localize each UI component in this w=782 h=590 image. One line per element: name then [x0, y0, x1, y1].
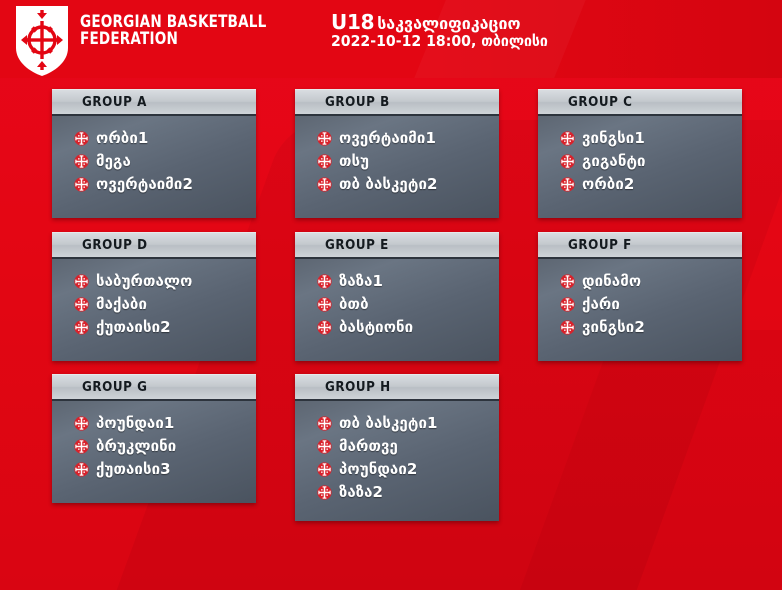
group-label-f: GROUP F: [568, 238, 632, 253]
federation-emblem-bullet-icon: [317, 131, 332, 146]
team-name: ვინგსი1: [582, 129, 645, 147]
team-row: ვინგსი1: [560, 127, 734, 149]
team-name: ბასტიონი: [339, 318, 413, 336]
team-name: ორბი2: [582, 175, 634, 193]
federation-emblem-bullet-icon: [317, 177, 332, 192]
event-category: U18: [331, 10, 374, 34]
team-row: ქუთაისი2: [74, 316, 248, 338]
team-row: პოუნდაი1: [74, 412, 248, 434]
federation-emblem-bullet-icon: [317, 462, 332, 477]
federation-emblem-bullet-icon: [317, 439, 332, 454]
federation-emblem-bullet-icon: [74, 462, 89, 477]
federation-emblem-bullet-icon: [560, 297, 575, 312]
team-row: ბასტიონი: [317, 316, 491, 338]
group-card-f: GROUP Fდინამოქარივინგსი2: [538, 232, 742, 361]
team-name: ორბი1: [96, 129, 148, 147]
group-card-b: GROUP Bოვერტაიმი1თსუთბ ბასკეტი2: [295, 89, 499, 218]
team-row: თბ ბასკეტი2: [317, 173, 491, 195]
event-datetime: 2022-10-12 18:00, თბილისი: [331, 34, 548, 50]
team-name: თბ ბასკეტი2: [339, 175, 438, 193]
event-title-text: საკვალიფიკაციო: [377, 14, 520, 33]
team-name: პოუნდაი1: [96, 414, 174, 432]
federation-emblem-bullet-icon: [317, 154, 332, 169]
gbf-shield-logo-icon: [14, 4, 70, 78]
group-header-c: GROUP C: [538, 89, 742, 114]
group-card-c: GROUP Cვინგსი1გიგანტიორბი2: [538, 89, 742, 218]
federation-emblem-bullet-icon: [560, 177, 575, 192]
team-name: პოუნდაი2: [339, 460, 417, 478]
team-row: მეგა: [74, 150, 248, 172]
team-name: ბრუკლინი: [96, 437, 176, 455]
federation-name: GEORGIAN BASKETBALL FEDERATION: [80, 14, 313, 49]
team-name: ქარი: [582, 295, 620, 313]
team-name: ოვერტაიმი1: [339, 129, 436, 147]
team-row: ორბი2: [560, 173, 734, 195]
team-row: ზაზა1: [317, 270, 491, 292]
federation-name-line2: FEDERATION: [80, 31, 266, 48]
group-label-a: GROUP A: [82, 95, 147, 110]
team-name: ბთბ: [339, 295, 369, 313]
federation-emblem-bullet-icon: [74, 274, 89, 289]
group-header-g: GROUP G: [52, 374, 256, 399]
group-header-e: GROUP E: [295, 232, 499, 257]
group-label-d: GROUP D: [82, 238, 148, 253]
team-row: ბთბ: [317, 293, 491, 315]
federation-emblem-bullet-icon: [317, 274, 332, 289]
federation-emblem-bullet-icon: [74, 439, 89, 454]
federation-emblem-bullet-icon: [560, 131, 575, 146]
team-row: გიგანტი: [560, 150, 734, 172]
federation-emblem-bullet-icon: [317, 485, 332, 500]
event-title: U18საკვალიფიკაციო: [331, 12, 562, 33]
federation-emblem-bullet-icon: [317, 416, 332, 431]
team-row: თბ ბასკეტი1: [317, 412, 491, 434]
team-row: ქუთაისი3: [74, 458, 248, 480]
team-name: დინამო: [582, 272, 641, 290]
team-row: ოვერტაიმი1: [317, 127, 491, 149]
federation-emblem-bullet-icon: [74, 154, 89, 169]
masthead: GEORGIAN BASKETBALL FEDERATION U18საკვალ…: [0, 0, 782, 80]
team-row: დინამო: [560, 270, 734, 292]
group-card-a: GROUP Aორბი1მეგაოვერტაიმი2: [52, 89, 256, 218]
federation-emblem-bullet-icon: [74, 177, 89, 192]
team-name: გიგანტი: [582, 152, 646, 170]
team-name: მაქაბი: [96, 295, 147, 313]
group-team-list-f: დინამოქარივინგსი2: [538, 257, 742, 361]
team-row: ქარი: [560, 293, 734, 315]
federation-emblem-bullet-icon: [560, 320, 575, 335]
team-row: ზაზა2: [317, 481, 491, 503]
team-name: ზაზა2: [339, 483, 383, 501]
team-name: თბ ბასკეტი1: [339, 414, 438, 432]
group-label-g: GROUP G: [82, 380, 148, 395]
team-name: ქუთაისი3: [96, 460, 171, 478]
group-header-f: GROUP F: [538, 232, 742, 257]
group-team-list-b: ოვერტაიმი1თსუთბ ბასკეტი2: [295, 114, 499, 218]
team-name: საბურთალო: [96, 272, 192, 290]
team-name: ზაზა1: [339, 272, 383, 290]
team-name: ოვერტაიმი2: [96, 175, 193, 193]
group-card-h: GROUP Hთბ ბასკეტი1მართვეპოუნდაი2ზაზა2: [295, 374, 499, 521]
group-team-list-h: თბ ბასკეტი1მართვეპოუნდაი2ზაზა2: [295, 399, 499, 521]
group-header-h: GROUP H: [295, 374, 499, 399]
team-name: ვინგსი2: [582, 318, 645, 336]
team-name: ქუთაისი2: [96, 318, 171, 336]
federation-emblem-bullet-icon: [560, 154, 575, 169]
federation-emblem-bullet-icon: [74, 131, 89, 146]
team-row: მაქაბი: [74, 293, 248, 315]
group-label-e: GROUP E: [325, 238, 389, 253]
team-row: ვინგსი2: [560, 316, 734, 338]
group-label-b: GROUP B: [325, 95, 390, 110]
team-row: საბურთალო: [74, 270, 248, 292]
team-name: მართვე: [339, 437, 398, 455]
team-row: ბრუკლინი: [74, 435, 248, 457]
team-row: ორბი1: [74, 127, 248, 149]
team-row: ოვერტაიმი2: [74, 173, 248, 195]
group-team-list-d: საბურთალომაქაბიქუთაისი2: [52, 257, 256, 361]
group-label-c: GROUP C: [568, 95, 632, 110]
federation-emblem-bullet-icon: [74, 416, 89, 431]
team-name: თსუ: [339, 152, 369, 170]
team-name: მეგა: [96, 152, 131, 170]
federation-emblem-bullet-icon: [317, 297, 332, 312]
group-header-d: GROUP D: [52, 232, 256, 257]
federation-emblem-bullet-icon: [317, 320, 332, 335]
federation-emblem-bullet-icon: [74, 297, 89, 312]
federation-emblem-bullet-icon: [560, 274, 575, 289]
team-row: მართვე: [317, 435, 491, 457]
group-team-list-c: ვინგსი1გიგანტიორბი2: [538, 114, 742, 218]
group-team-list-e: ზაზა1ბთბბასტიონი: [295, 257, 499, 361]
group-board: GROUP Aორბი1მეგაოვერტაიმი2GROUP Bოვერტაი…: [0, 80, 782, 590]
group-label-h: GROUP H: [325, 380, 391, 395]
group-card-d: GROUP Dსაბურთალომაქაბიქუთაისი2: [52, 232, 256, 361]
group-header-a: GROUP A: [52, 89, 256, 114]
group-card-g: GROUP Gპოუნდაი1ბრუკლინიქუთაისი3: [52, 374, 256, 503]
group-card-e: GROUP Eზაზა1ბთბბასტიონი: [295, 232, 499, 361]
group-team-list-a: ორბი1მეგაოვერტაიმი2: [52, 114, 256, 218]
team-row: თსუ: [317, 150, 491, 172]
group-header-b: GROUP B: [295, 89, 499, 114]
event-info: U18საკვალიფიკაციო 2022-10-12 18:00, თბილ…: [331, 12, 562, 50]
federation-emblem-bullet-icon: [74, 320, 89, 335]
group-team-list-g: პოუნდაი1ბრუკლინიქუთაისი3: [52, 399, 256, 503]
team-row: პოუნდაი2: [317, 458, 491, 480]
